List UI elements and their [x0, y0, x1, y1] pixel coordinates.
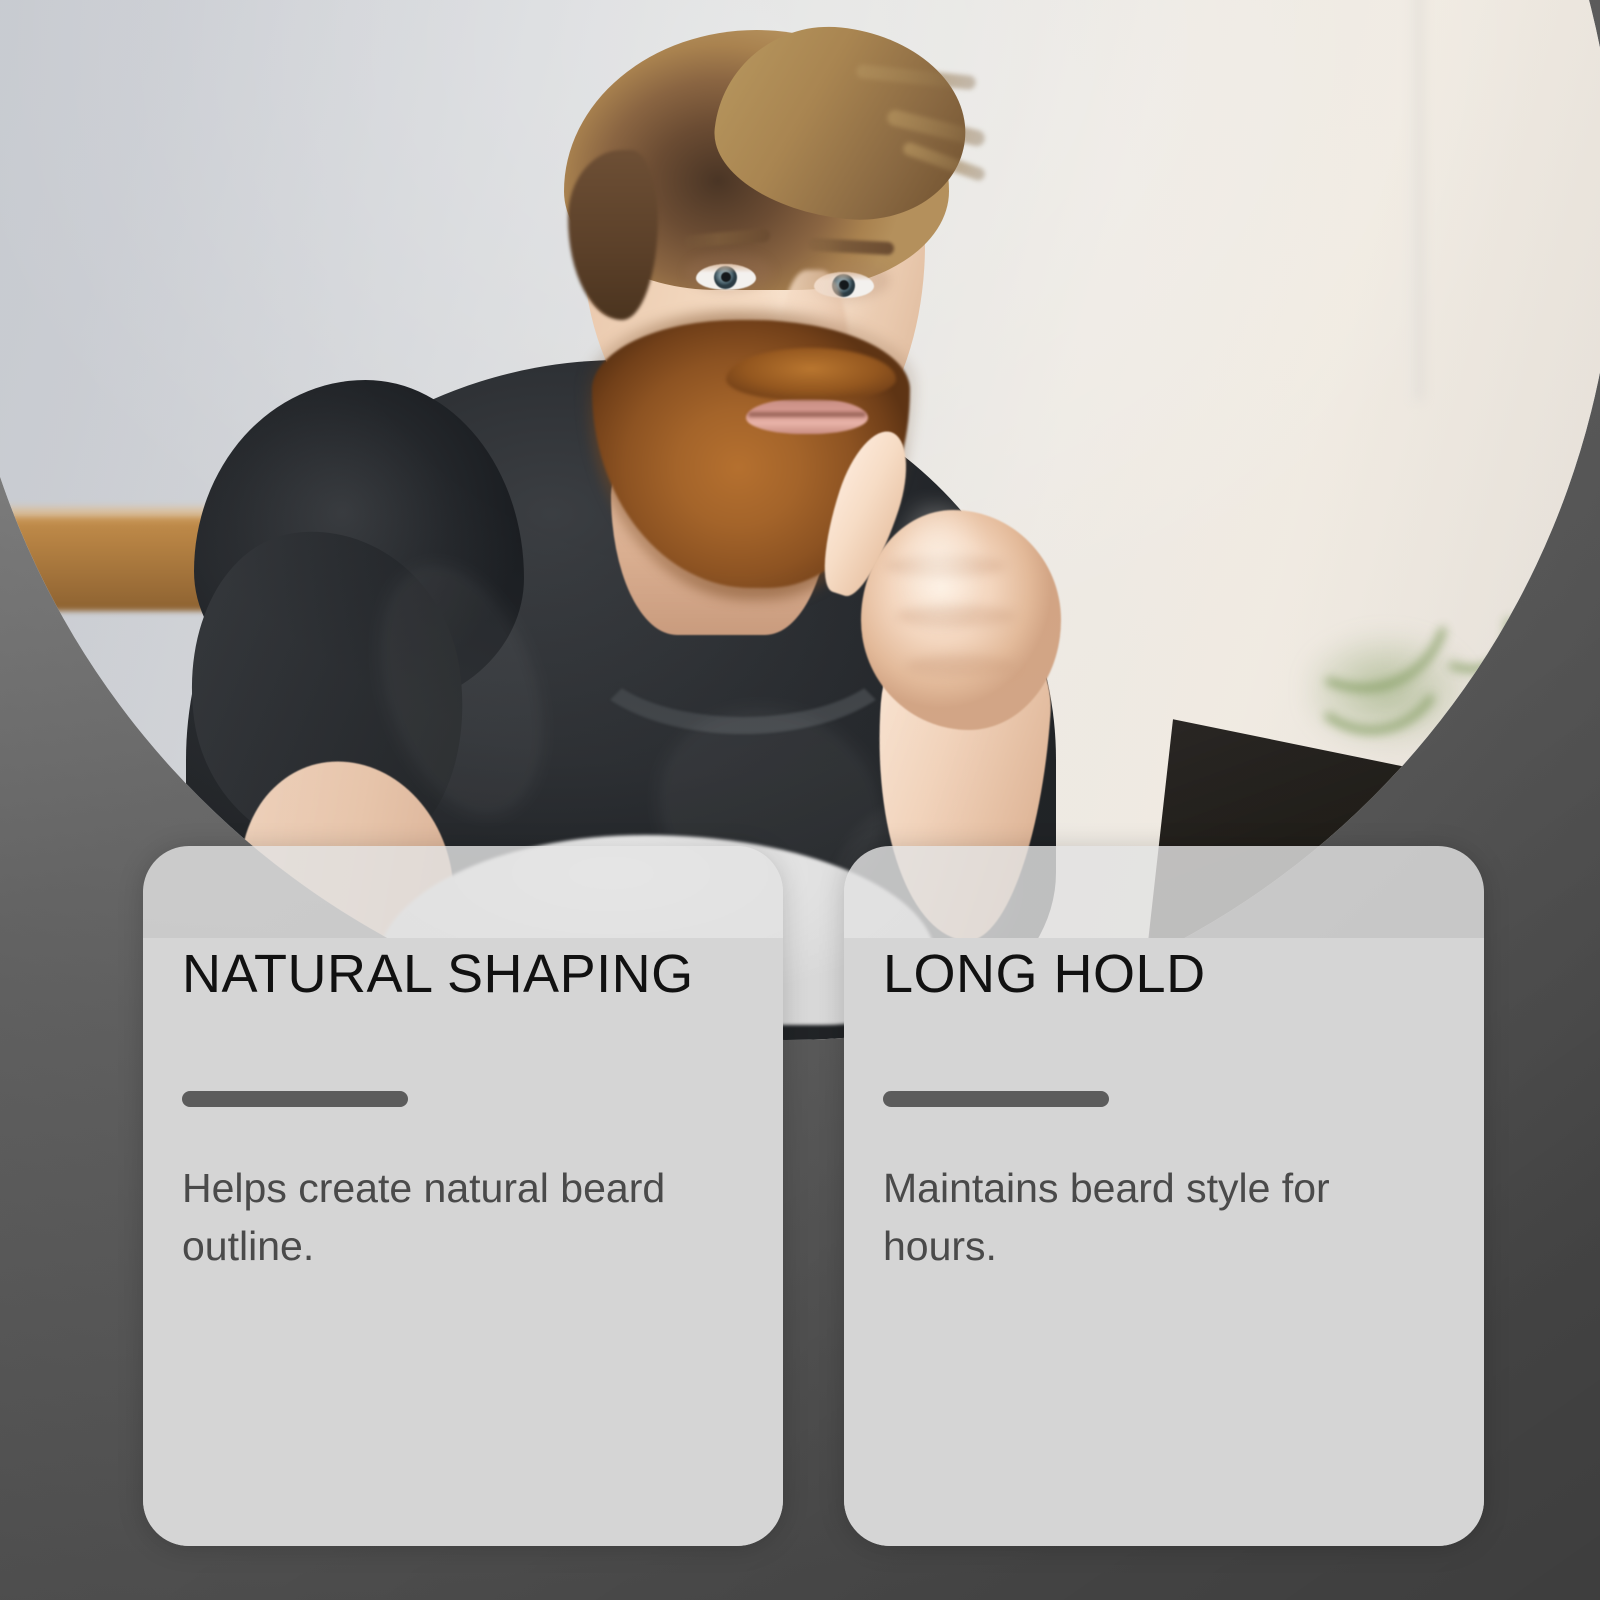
feature-card-row: NATURAL SHAPING Helps create natural bea…	[143, 846, 1484, 1546]
poster-canvas: NATURAL SHAPING Helps create natural bea…	[0, 0, 1600, 1600]
card-content: NATURAL SHAPING Helps create natural bea…	[182, 946, 783, 1275]
feature-card-natural-shaping[interactable]: NATURAL SHAPING Helps create natural bea…	[143, 846, 783, 1546]
card-title: NATURAL SHAPING	[182, 946, 783, 1003]
card-description: Maintains beard style for hours.	[883, 1159, 1403, 1275]
card-divider-rule	[182, 1091, 408, 1107]
card-description: Helps create natural beard outline.	[182, 1159, 702, 1275]
card-divider-rule	[883, 1091, 1109, 1107]
card-title: LONG HOLD	[883, 946, 1484, 1003]
feature-card-long-hold[interactable]: LONG HOLD Maintains beard style for hour…	[844, 846, 1484, 1546]
card-content: LONG HOLD Maintains beard style for hour…	[883, 946, 1484, 1275]
